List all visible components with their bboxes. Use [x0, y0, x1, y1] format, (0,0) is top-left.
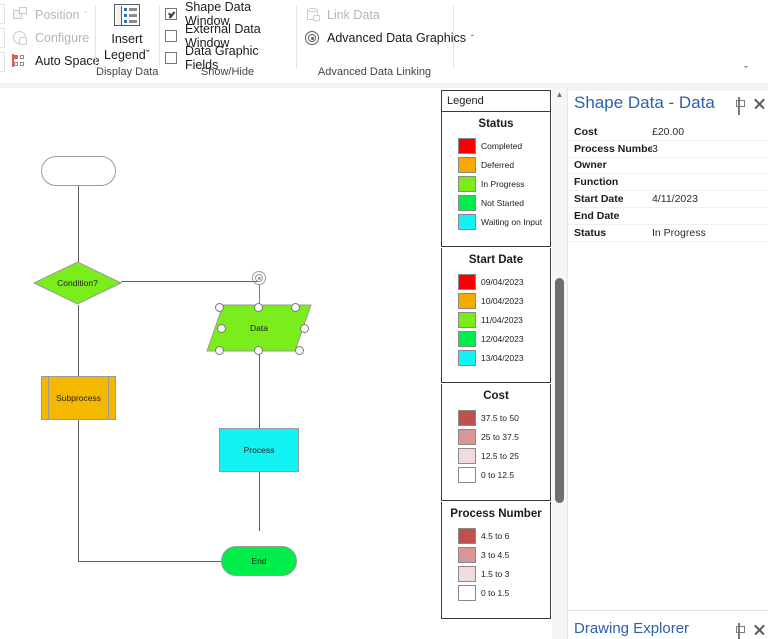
legend-section-title: Status [442, 118, 550, 130]
drawing-explorer-pane-header[interactable]: Drawing Explorer [568, 610, 768, 639]
link-data-button[interactable]: Link Data [302, 4, 383, 26]
legend-row-label: 4.5 to 6 [481, 531, 509, 541]
shape-label: Subprocess [56, 393, 101, 403]
scroll-up-button[interactable]: ▲ [552, 88, 567, 102]
ribbon-group-arrange: Position ˇ Configure Auto Space [8, 0, 94, 83]
legend-row: 1.5 to 3 [458, 564, 550, 583]
checkbox-unchecked-icon [165, 30, 177, 42]
link-data-label: Link Data [327, 9, 380, 22]
legend-section-title: Process Number [442, 508, 550, 520]
configure-button[interactable]: Configure [10, 27, 92, 49]
insert-legend-button[interactable]: Insert Legendˇ [96, 3, 158, 63]
legend-row-label: Deferred [481, 160, 514, 170]
connector-condition-to-data[interactable] [121, 281, 259, 282]
legend-swatch [458, 528, 476, 544]
legend-title-label: Legend [447, 95, 484, 107]
resize-handle-sw[interactable] [215, 346, 224, 355]
legend-row-label: 0 to 1.5 [481, 588, 509, 598]
float-icon[interactable] [734, 97, 747, 110]
connector-data-to-process[interactable] [259, 353, 260, 429]
legend-swatch [458, 176, 476, 192]
legend-row-label: 25 to 37.5 [481, 432, 519, 442]
subprocess-right-bar [108, 377, 109, 419]
auto-space-icon [13, 53, 30, 69]
visio-window: Position ˇ Configure Auto Space [0, 0, 768, 639]
legend-swatch [458, 547, 476, 563]
configure-label: Configure [35, 32, 89, 45]
ribbon-group-show-hide: Shape Data Window External Data Window D… [160, 0, 295, 83]
legend-rows: 37.5 to 50 25 to 37.5 12.5 to 25 0 to 12… [442, 408, 550, 484]
legend-row-label: 12.5 to 25 [481, 451, 519, 461]
legend-row-label: 37.5 to 50 [481, 413, 519, 423]
arrow-up-icon: ▲ [556, 90, 564, 99]
shape-data-row[interactable]: Owner [568, 158, 768, 175]
legend-row-label: 1.5 to 3 [481, 569, 509, 579]
ribbon-group-label-advanced-data-linking: Advanced Data Linking [297, 66, 452, 78]
legend-section-status: Status Completed Deferred In Progress No… [441, 112, 551, 247]
shape-label: Condition? [33, 261, 122, 305]
legend-swatch [458, 157, 476, 173]
chevron-down-icon: ˇ [744, 65, 748, 77]
advanced-data-graphics-button[interactable]: Advanced Data Graphics ˇ [302, 27, 477, 49]
legend-swatch [458, 293, 476, 309]
shape-data-table: Cost £20.00 Process Number 3 Owner Funct… [568, 124, 768, 242]
shape-data-key: Function [568, 176, 652, 188]
legend-row-label: In Progress [481, 179, 524, 189]
shape-data-value[interactable]: £20.00 [652, 126, 684, 138]
auto-space-label: Auto Space [35, 55, 100, 68]
chevron-down-icon: ˇ [471, 35, 474, 43]
configure-icon [13, 30, 30, 46]
legend-swatch [458, 429, 476, 445]
shape-data-row[interactable]: Cost £20.00 [568, 124, 768, 141]
checkbox-shape-data-window[interactable]: Shape Data Window [165, 4, 295, 24]
legend-swatch [458, 350, 476, 366]
shape-data-pane-title: Shape Data - Data [574, 93, 715, 113]
legend-section-title: Start Date [442, 254, 550, 266]
legend-rows: 09/04/2023 10/04/2023 11/04/2023 12/04/2… [442, 272, 550, 367]
legend-row-label: 13/04/2023 [481, 353, 524, 363]
shape-end[interactable]: End [221, 546, 297, 576]
legend-swatch [458, 410, 476, 426]
auto-space-button[interactable]: Auto Space [10, 50, 103, 72]
legend-row-label: Waiting on Input [481, 217, 542, 227]
resize-handle-e[interactable] [300, 324, 309, 333]
legend-row: Waiting on Input [458, 212, 550, 231]
position-label: Position [35, 9, 79, 22]
task-pane-top-strip [568, 88, 768, 91]
legend-row: 13/04/2023 [458, 348, 550, 367]
shape-data-key: Status [568, 227, 652, 239]
legend-row: 3 to 4.5 [458, 545, 550, 564]
shape-process[interactable]: Process [219, 428, 299, 472]
legend-row-label: Not Started [481, 198, 524, 208]
legend-row-label: 11/04/2023 [481, 315, 523, 325]
shape-data-key: Cost [568, 126, 652, 138]
legend-swatch [458, 448, 476, 464]
shape-data-pane-actions [734, 97, 766, 110]
close-icon[interactable] [753, 97, 766, 110]
shape-data-key: Process Number [568, 143, 652, 155]
resize-handle-se[interactable] [295, 346, 304, 355]
legend-row-label: 3 to 4.5 [481, 550, 509, 560]
legend-row-label: 09/04/2023 [481, 277, 524, 287]
resize-handle-nw[interactable] [215, 303, 224, 312]
drawing-explorer-pane-actions [734, 623, 766, 636]
drawing-explorer-pane-title: Drawing Explorer [574, 620, 689, 637]
ribbon-group-label-show-hide: Show/Hide [160, 66, 295, 78]
shape-data-pane-header: Shape Data - Data [568, 93, 768, 121]
legend-row: 0 to 12.5 [458, 465, 550, 484]
checkbox-checked-icon [165, 8, 177, 20]
legend-row: 12/04/2023 [458, 329, 550, 348]
shape-data-row[interactable]: Function [568, 174, 768, 191]
ribbon-group-label-display-data: Display Data [96, 66, 158, 78]
legend-swatch [458, 566, 476, 582]
close-icon[interactable] [753, 623, 766, 636]
checkbox-data-graphic-fields[interactable]: Data Graphic Fields [165, 48, 295, 68]
shape-data-value[interactable]: 3 [652, 143, 658, 155]
shape-data-row[interactable]: End Date [568, 208, 768, 225]
legend-section-start-date: Start Date 09/04/2023 10/04/2023 11/04/2… [441, 248, 551, 383]
connector-subprocess-down[interactable] [78, 420, 79, 561]
shape-data-key: End Date [568, 210, 652, 222]
checkbox-unchecked-icon [165, 52, 177, 64]
shape-data-key: Owner [568, 159, 652, 171]
position-button[interactable]: Position ˇ [10, 4, 90, 26]
rotation-handle-icon[interactable] [251, 270, 267, 286]
connector-start-to-condition[interactable] [78, 186, 79, 262]
legend-swatch [458, 331, 476, 347]
legend-row: 0 to 1.5 [458, 583, 550, 602]
shape-subprocess[interactable]: Subprocess [41, 376, 116, 420]
shape-data-row[interactable]: Process Number 3 [568, 141, 768, 158]
ribbon-collapse-button[interactable]: ˇ [738, 64, 754, 78]
insert-legend-icon [112, 3, 142, 29]
legend-swatch [458, 195, 476, 211]
legend-row: Not Started [458, 193, 550, 212]
ribbon: Position ˇ Configure Auto Space [0, 0, 768, 88]
legend-swatch [458, 467, 476, 483]
chevron-down-icon: ˇ [84, 12, 87, 20]
drawing-canvas[interactable]: No Start Condition? Data [0, 88, 440, 639]
subprocess-left-bar [48, 377, 49, 419]
connector-process-to-end[interactable] [259, 472, 260, 531]
insert-legend-label-2-row: Legendˇ [104, 48, 150, 64]
legend-swatch [458, 312, 476, 328]
float-icon[interactable] [734, 623, 747, 636]
legend-row-label: 12/04/2023 [481, 334, 524, 344]
legend-row: 11/04/2023 [458, 310, 550, 329]
legend-row-label: 10/04/2023 [481, 296, 524, 306]
legend-title: Legend [441, 90, 551, 112]
canvas-vertical-scrollbar[interactable]: ▲ [552, 88, 567, 639]
legend-row: 4.5 to 6 [458, 526, 550, 545]
legend-row: 10/04/2023 [458, 291, 550, 310]
legend-row: 12.5 to 25 [458, 446, 550, 465]
legend-rows: 4.5 to 6 3 to 4.5 1.5 to 3 0 to 1.5 [442, 526, 550, 602]
advanced-data-graphics-label: Advanced Data Graphics [327, 32, 466, 45]
ribbon-divider [453, 6, 454, 68]
shape-start[interactable]: Start [41, 156, 116, 186]
shape-data-row[interactable]: Status In Progress [568, 225, 768, 242]
legend-row: 25 to 37.5 [458, 427, 550, 446]
shape-data-key: Start Date [568, 193, 652, 205]
ribbon-group-display-data: Insert Legendˇ Display Data [96, 0, 158, 83]
legend-swatch [458, 585, 476, 601]
legend-row-label: Completed [481, 141, 522, 151]
link-data-icon [305, 7, 322, 23]
legend-row: Completed [458, 136, 550, 155]
legend-row: Deferred [458, 155, 550, 174]
legend-section-process-number: Process Number 4.5 to 6 3 to 4.5 1.5 to … [441, 502, 551, 619]
shape-label: Process [244, 445, 275, 455]
scrollbar-thumb[interactable] [555, 278, 564, 503]
legend-section-title: Cost [442, 390, 550, 402]
legend-row: 09/04/2023 [458, 272, 550, 291]
shape-condition[interactable]: Condition? [33, 261, 122, 305]
legend-row: 37.5 to 50 [458, 408, 550, 427]
resize-handle-n[interactable] [254, 303, 263, 312]
legend-swatch [458, 274, 476, 290]
ribbon-group-advanced-data-linking: Link Data Advanced Data Graphics ˇ Advan… [297, 0, 452, 83]
ribbon-group-overflow-sliver [0, 2, 6, 80]
legend-panel[interactable]: Legend Status Completed Deferred In Prog… [441, 88, 551, 639]
legend-row-label: 0 to 12.5 [481, 470, 514, 480]
chevron-down-icon: ˇ [146, 48, 150, 62]
insert-legend-label-2: Legend [104, 48, 146, 62]
task-pane-container: Shape Data - Data Cost £20.00 Process Nu… [567, 88, 768, 639]
shape-data-row[interactable]: Start Date 4/11/2023 [568, 191, 768, 208]
position-icon [13, 7, 30, 23]
legend-row: In Progress [458, 174, 550, 193]
legend-swatch [458, 138, 476, 154]
resize-handle-w[interactable] [217, 324, 226, 333]
advanced-data-graphics-icon [305, 30, 322, 46]
legend-swatch [458, 214, 476, 230]
legend-rows: Completed Deferred In Progress Not Start… [442, 136, 550, 231]
resize-handle-s[interactable] [254, 346, 263, 355]
connector-subprocess-to-end[interactable] [78, 561, 230, 562]
legend-section-cost: Cost 37.5 to 50 25 to 37.5 12.5 to 25 0 … [441, 384, 551, 501]
shape-label: End [251, 556, 266, 566]
shape-data-value[interactable]: 4/11/2023 [652, 193, 698, 205]
shape-label: Start [70, 166, 88, 176]
insert-legend-label-1: Insert [111, 32, 142, 48]
shape-data-value[interactable]: In Progress [652, 227, 706, 239]
checkbox-external-data-window[interactable]: External Data Window [165, 26, 295, 46]
resize-handle-ne[interactable] [291, 303, 300, 312]
